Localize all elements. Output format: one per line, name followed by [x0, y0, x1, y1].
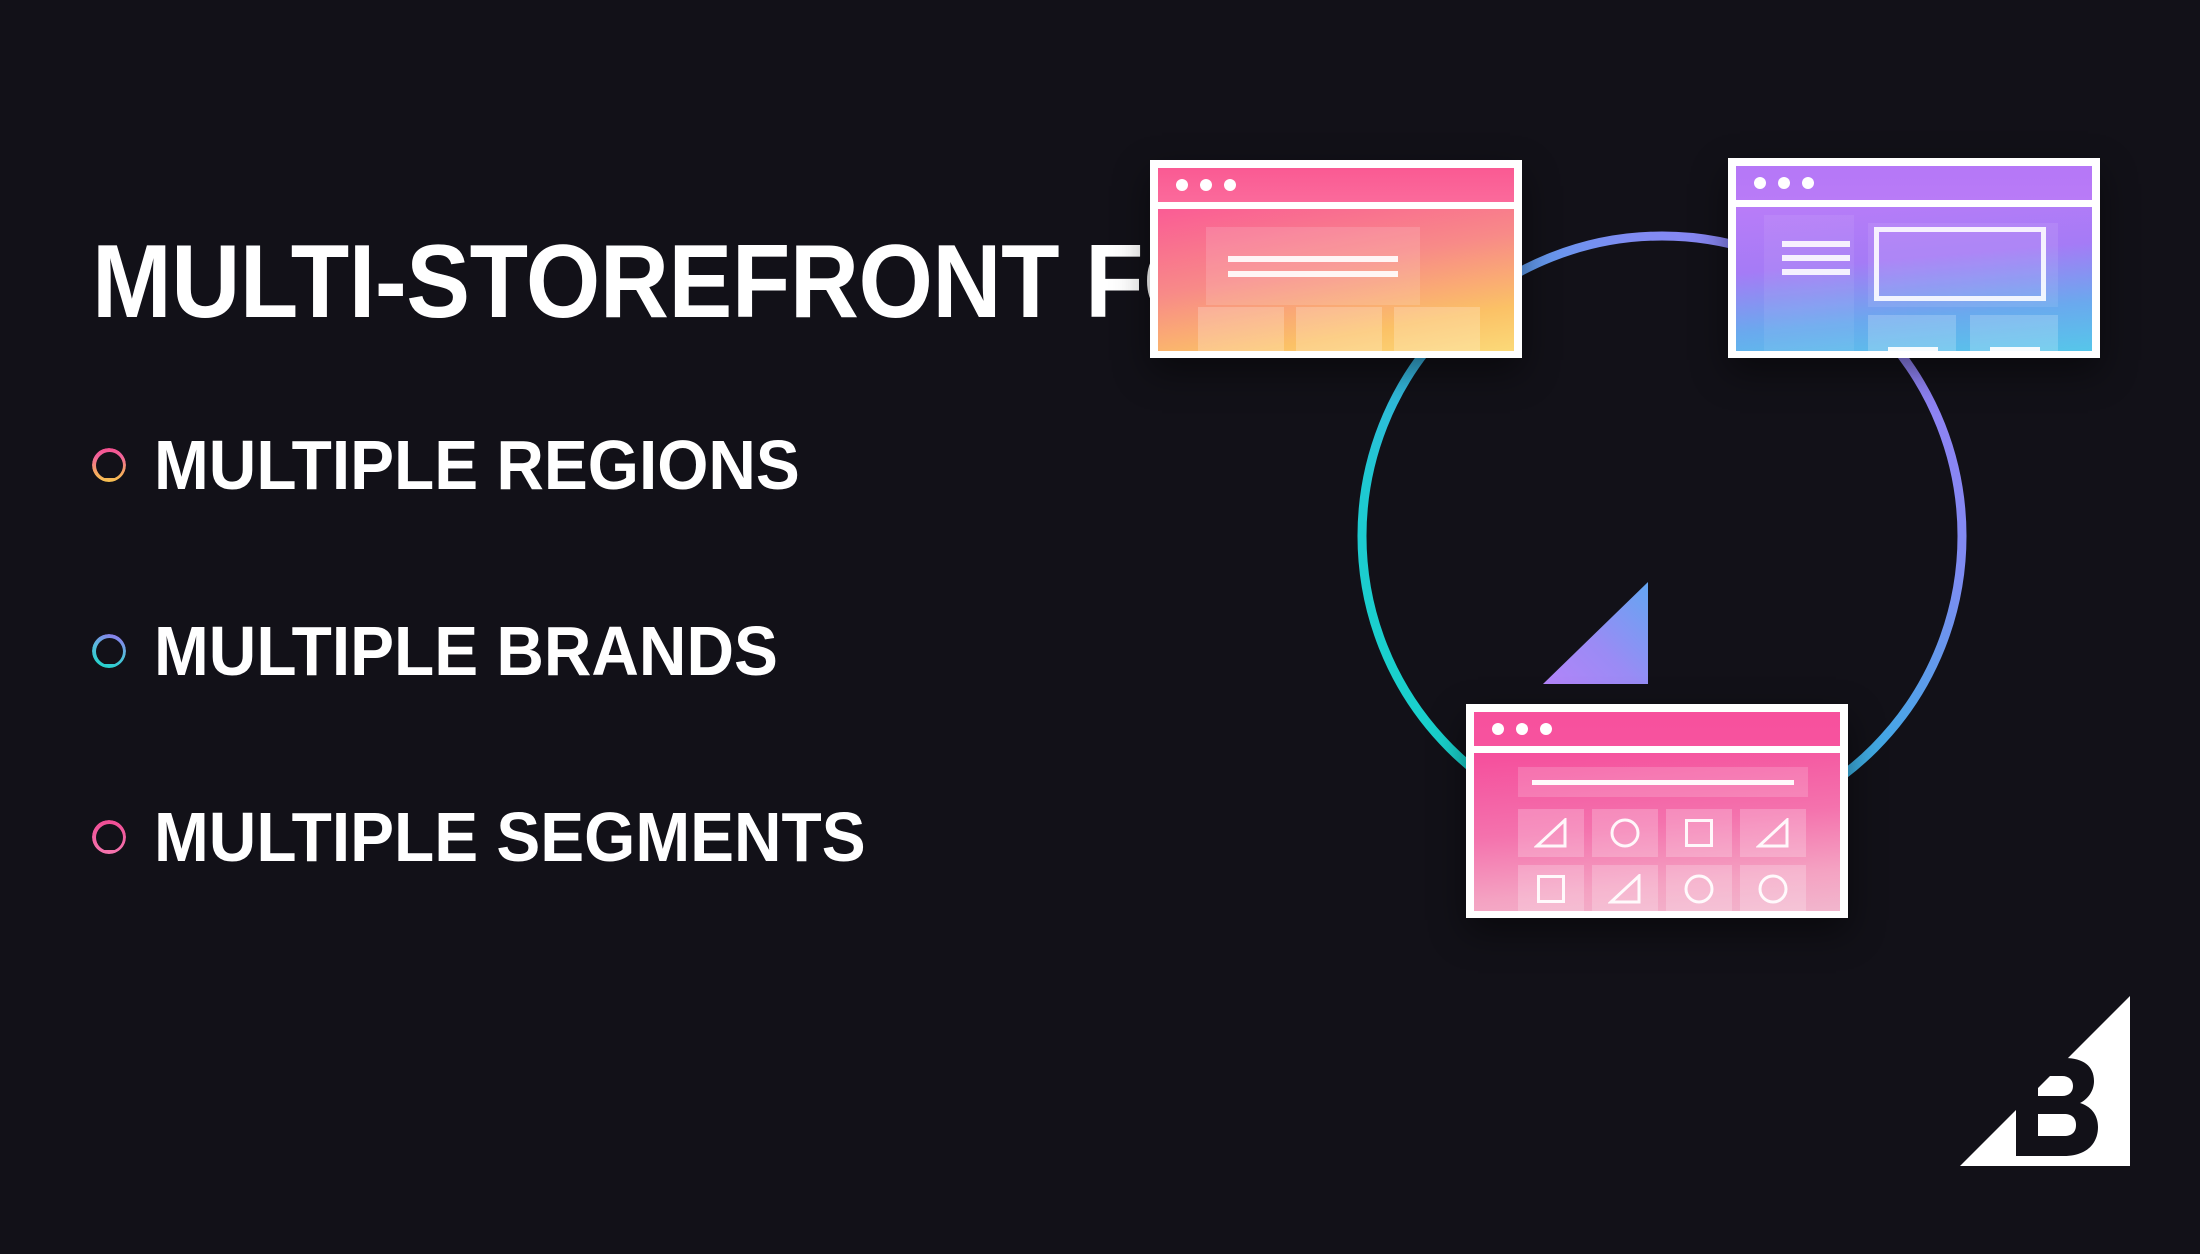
grid-tile[interactable]	[1666, 865, 1732, 911]
circle-icon	[1683, 873, 1715, 905]
list-item-label: MULTIPLE REGIONS	[154, 430, 800, 500]
list-item-label: MULTIPLE BRANDS	[154, 616, 778, 686]
window-title-bar	[1158, 168, 1514, 202]
grid-tile[interactable]	[1740, 809, 1806, 857]
content-card-label	[1888, 347, 1938, 351]
browser-window-segments[interactable]	[1466, 704, 1848, 918]
window-dot-icon	[1540, 723, 1552, 735]
window-dot-icon	[1224, 179, 1236, 191]
sidebar-nav-line[interactable]	[1782, 269, 1850, 275]
circle-icon	[1757, 873, 1789, 905]
hero-banner	[1206, 227, 1420, 305]
slide-canvas: MULTI-STOREFRONT FOR MULTIPLE REGIONS MU…	[0, 0, 2200, 1254]
list-item: MULTIPLE REGIONS	[92, 420, 1112, 510]
page-title: MULTI-STOREFRONT FOR	[92, 232, 1030, 334]
hero-banner	[1868, 223, 2058, 307]
triangle-icon	[1534, 818, 1568, 848]
hero-text-line	[1228, 271, 1398, 277]
square-icon	[1536, 874, 1566, 904]
window-dot-icon	[1200, 179, 1212, 191]
search-placeholder-line	[1532, 780, 1794, 785]
window-content	[1736, 207, 2092, 351]
grid-tile[interactable]	[1592, 809, 1658, 857]
hero-frame	[1874, 227, 2046, 301]
window-dot-icon	[1176, 179, 1188, 191]
sidebar-nav-line[interactable]	[1782, 241, 1850, 247]
grid-tile[interactable]	[1518, 809, 1584, 857]
product-card-row	[1198, 307, 1480, 351]
grid-tile[interactable]	[1740, 865, 1806, 911]
content-card[interactable]	[1868, 315, 1956, 351]
window-dot-icon	[1516, 723, 1528, 735]
product-card[interactable]	[1296, 307, 1382, 351]
triangle-icon	[1756, 818, 1790, 848]
window-content	[1474, 753, 1840, 911]
product-card[interactable]	[1394, 307, 1480, 351]
sidebar-nav	[1764, 215, 1854, 351]
list-item: MULTIPLE SEGMENTS	[92, 792, 1112, 882]
grid-tile[interactable]	[1592, 865, 1658, 911]
ring-icon	[92, 448, 126, 482]
grid-tile[interactable]	[1666, 809, 1732, 857]
window-dot-icon	[1754, 177, 1766, 189]
feature-list: MULTIPLE REGIONS MULTIPLE BRANDS MULTIPL…	[92, 420, 1112, 882]
product-card[interactable]	[1198, 307, 1284, 351]
circle-icon	[1609, 817, 1641, 849]
browser-window-regions[interactable]	[1150, 160, 1522, 358]
sidebar-nav-line[interactable]	[1782, 255, 1850, 261]
bigcommerce-logo	[1940, 996, 2130, 1166]
copy-block: MULTI-STOREFRONT FOR MULTIPLE REGIONS MU…	[92, 232, 1112, 882]
search-input[interactable]	[1518, 767, 1808, 797]
ring-icon	[92, 820, 126, 854]
content-card-row	[1868, 315, 2058, 351]
window-dot-icon	[1492, 723, 1504, 735]
window-dot-icon	[1778, 177, 1790, 189]
browser-window-brands[interactable]	[1728, 158, 2100, 358]
content-card-label	[1990, 347, 2040, 351]
content-card[interactable]	[1970, 315, 2058, 351]
triangle-icon	[1608, 874, 1642, 904]
window-content	[1158, 209, 1514, 351]
list-item-label: MULTIPLE SEGMENTS	[154, 802, 866, 872]
hero-text-line	[1228, 256, 1398, 262]
square-icon	[1684, 818, 1714, 848]
window-dot-icon	[1802, 177, 1814, 189]
shape-grid	[1518, 809, 1806, 911]
ring-icon	[92, 634, 126, 668]
window-title-bar	[1736, 166, 2092, 200]
window-title-bar	[1474, 712, 1840, 746]
list-item: MULTIPLE BRANDS	[92, 606, 1112, 696]
grid-tile[interactable]	[1518, 865, 1584, 911]
play-triangle-icon	[1543, 582, 1648, 684]
